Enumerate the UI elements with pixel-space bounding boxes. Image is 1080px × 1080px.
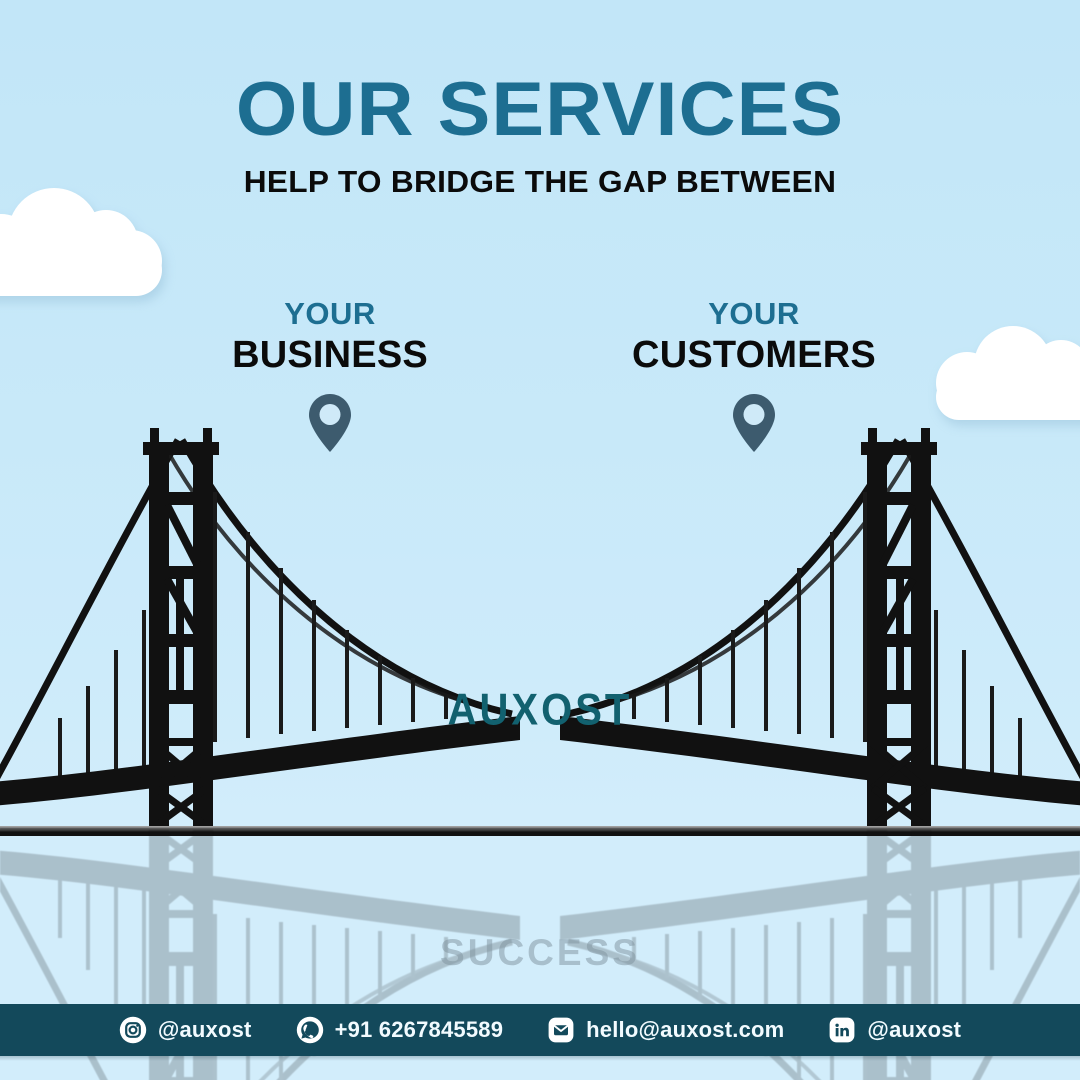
contact-linkedin-label: @auxost: [867, 1017, 961, 1043]
poster-canvas: OUR SERVICES HELP TO BRIDGE THE GAP BETW…: [0, 0, 1080, 1080]
success-watermark: SUCCESS: [0, 932, 1080, 974]
email-icon: [547, 1016, 575, 1044]
footer-contact-bar: @auxost +91 6267845589 hello@auxost.: [0, 1004, 1080, 1056]
whatsapp-icon: [296, 1016, 324, 1044]
contact-linkedin[interactable]: @auxost: [806, 1016, 983, 1044]
contact-instagram[interactable]: @auxost: [97, 1016, 274, 1044]
contact-whatsapp[interactable]: +91 6267845589: [274, 1016, 526, 1044]
contact-email-label: hello@auxost.com: [586, 1017, 784, 1043]
brand-logo: AUXOST: [0, 685, 1080, 735]
contact-instagram-label: @auxost: [158, 1017, 252, 1043]
footer-shadow: [0, 1056, 1080, 1061]
instagram-icon: [119, 1016, 147, 1044]
contact-whatsapp-label: +91 6267845589: [335, 1017, 504, 1043]
linkedin-icon: [828, 1016, 856, 1044]
contact-email[interactable]: hello@auxost.com: [525, 1016, 806, 1044]
